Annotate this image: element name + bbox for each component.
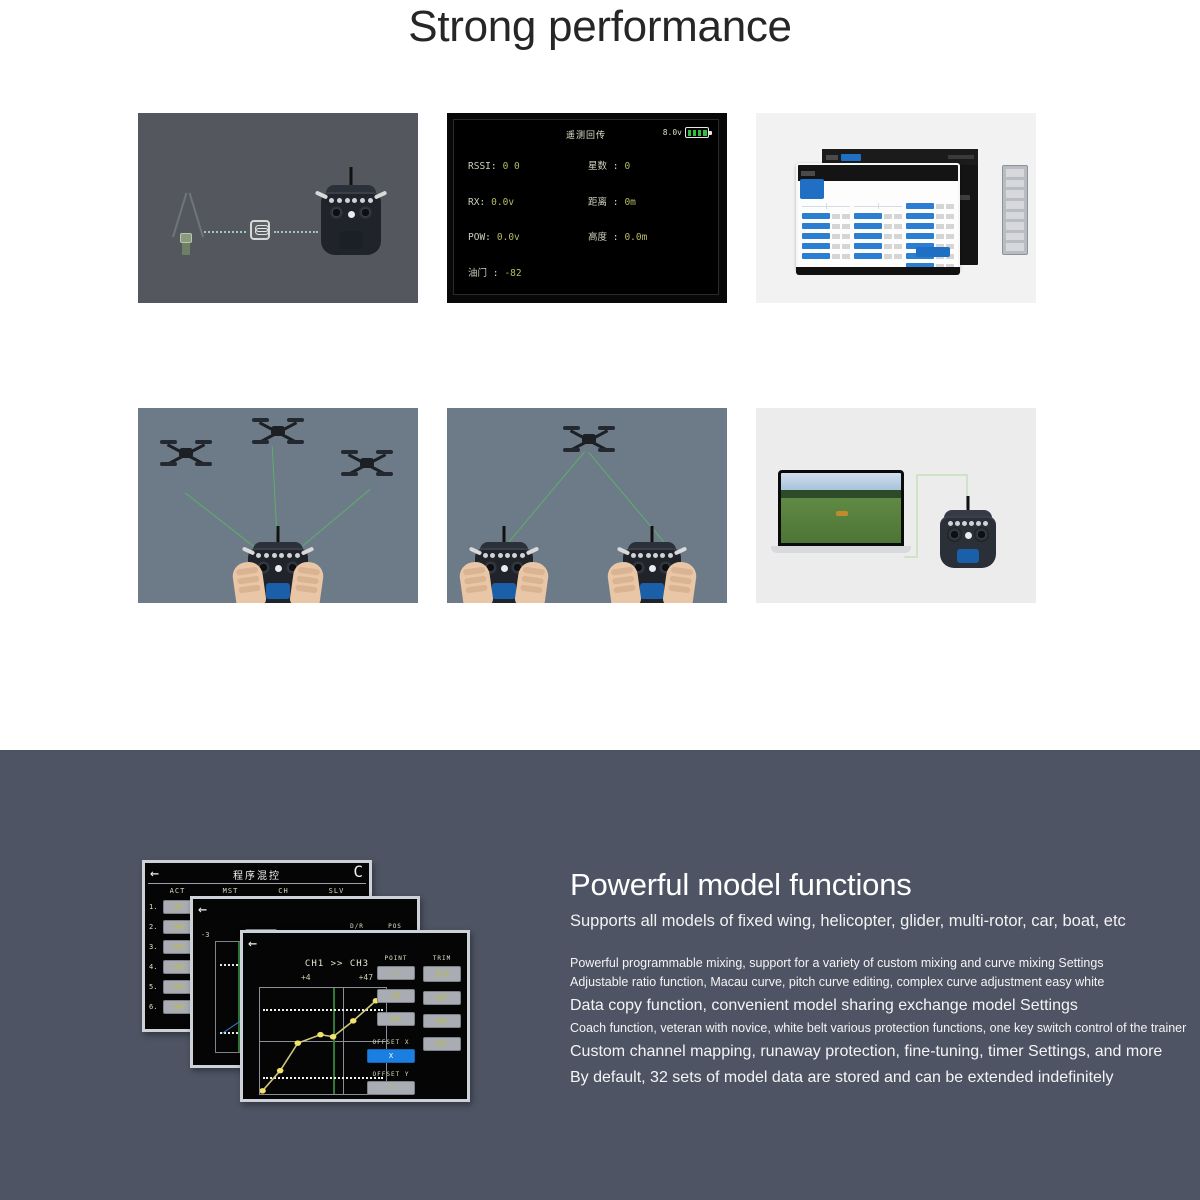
screen-title: 程序混控 [145,867,369,882]
telemetry-label: 高度 : [588,233,618,243]
radio-transmitter [321,167,381,255]
telemetry-row: RSSI:0 0 星数 :0 [468,162,708,172]
column-header-act: ACT [151,887,204,895]
list-item: Adjustable ratio function, Macau curve, … [570,973,1175,993]
signal-icon [250,220,270,240]
page-title: Strong performance [0,2,1200,52]
act-button[interactable]: INH [163,980,193,994]
usb-cable [904,556,918,558]
feature-telemetry: 遥测回传 8.0v RSSI:0 0 星数 :0 RX:0.0v 距离 :0m [447,113,727,303]
switch-row [329,198,372,204]
usb-cable [916,474,918,558]
list-item: Powerful programmable mixing, support fo… [570,954,1175,974]
row-index: 2. [149,923,158,931]
feature-grid: 遥测回传 8.0v RSSI:0 0 星数 :0 RX:0.0v 距离 :0m [138,113,1036,603]
back-arrow-icon[interactable]: ← [198,902,207,917]
section-subtitle: Supports all models of fixed wing, helic… [570,911,1175,932]
column-header-point: POINT [377,955,415,962]
column-header-slv: SLV [310,887,363,895]
channel-slider[interactable] [906,213,954,219]
powerful-model-functions-section: ← 程序混控 C ACT MST CH SLV 1. ON INH [0,750,1200,1200]
offset-value: -3 [201,931,209,939]
trim-edit-button[interactable]: EDT [423,991,461,1005]
transmitter-screen [640,583,663,599]
telemetry-rows: RSSI:0 0 星数 :0 RX:0.0v 距离 :0m POW:0.0v 高… [468,162,708,303]
channel-slider[interactable] [906,233,954,239]
feature-multi-model [138,408,418,603]
simulated-model-icon [836,511,848,516]
column-header-mst: MST [204,887,257,895]
point-del-button[interactable]: DEL [377,1012,415,1026]
refresh-icon[interactable]: C [353,864,363,880]
column-header-dr: D/R [341,923,373,930]
radio-transmitter-student [475,526,533,603]
telemetry-value: 0.0m [624,233,647,243]
battery-icon [685,127,709,138]
telemetry-value: 0m [624,198,635,208]
channel-slider[interactable] [906,223,954,229]
window-statusbar [796,267,960,275]
transmitter-screen [492,583,515,599]
row-index: 4. [149,963,158,971]
channel-slider[interactable] [802,233,850,239]
laptop-screen [778,470,904,546]
channel-slider[interactable] [854,213,902,219]
channel-slider[interactable] [906,203,954,209]
trim-off-button[interactable]: 关闭 [423,966,461,982]
link-dotted-line-left [204,231,246,233]
telemetry-row: 油门 :-82 [468,269,708,279]
telemetry-label: 距离 : [588,198,618,208]
drone-icon [344,450,390,476]
offset-x-label: OFFSET X [367,1039,415,1046]
offset-x-button[interactable]: X [367,1049,415,1063]
list-item: Data copy function, convenient model sha… [570,993,1175,1019]
telemetry-row: RX:0.0v 距离 :0m [468,198,708,208]
channel-slider[interactable] [802,253,850,259]
telemetry-value: 0.0v [497,233,520,243]
page-root: Strong performance [0,0,1200,1200]
telemetry-value: 0 0 [503,162,520,172]
telemetry-label: RX: [468,198,485,208]
link-dotted-line-right [274,231,318,233]
channel-slider[interactable] [802,213,850,219]
radio-transmitter-instructor [623,526,681,603]
nav-tab-active[interactable] [800,179,824,199]
drone-icon [163,440,209,466]
trim-inc-button[interactable]: INC [423,1014,461,1028]
telemetry-label: 星数 : [588,162,618,172]
list-item: By default, 32 sets of model data are st… [570,1065,1175,1091]
transmitter-screen [339,231,363,249]
channel-slider[interactable] [854,253,902,259]
feature-bullet-list: Powerful programmable mixing, support fo… [570,954,1175,1091]
section-copy: Powerful model functions Supports all mo… [570,868,1175,1091]
settings-window-front [796,163,960,271]
telemetry-label: POW: [468,233,491,243]
channel-slider[interactable] [854,233,902,239]
column-headers: ACT MST CH SLV [151,887,363,895]
mix-value-2: +47 [359,973,373,982]
power-led-icon [348,211,355,218]
trim-dec-button[interactable]: DEC [423,1037,461,1051]
feature-pc-software [756,113,1036,303]
section-title: Powerful model functions [570,868,1175,902]
telemetry-label: 油门 : [468,269,498,279]
telemetry-value: 0.0v [491,198,514,208]
offset-y-label: OFFSET Y [367,1071,415,1078]
stick-crosshair [802,203,850,209]
apply-button[interactable] [916,247,950,257]
row-index: 1. [149,903,158,911]
radio-transmitter [248,526,308,603]
radio-screen-stack: ← 程序混控 C ACT MST CH SLV 1. ON INH [140,860,490,1120]
screen-curve-editor: ← CH1 >> CH3 +4 +47 [240,930,470,1102]
usb-cable [916,474,968,476]
transmitter-screen [266,583,290,599]
row-index: 3. [149,943,158,951]
channel-slider[interactable] [854,243,902,249]
column-header-ch: CH [257,887,310,895]
battery-indicator: 8.0v [663,127,709,138]
point-on-button[interactable]: ON [377,989,415,1003]
feature-rf-link [138,113,418,303]
act-button[interactable]: INH [163,960,193,974]
column-header-trim: TRIM [423,955,461,962]
act-button[interactable]: INH [163,1000,193,1014]
telemetry-lcd: 遥测回传 8.0v RSSI:0 0 星数 :0 RX:0.0v 距离 :0m [453,119,719,295]
list-item: Custom channel mapping, runaway protecti… [570,1039,1175,1065]
channel-slider[interactable] [802,243,850,249]
channel-slider[interactable] [802,223,850,229]
row-index: 6. [149,1003,158,1011]
trim-column: TRIM 关闭 EDT INC DEC [423,955,461,1060]
act-button[interactable]: INH [163,940,193,954]
transmitter-screen [957,549,979,563]
back-arrow-icon[interactable]: ← [248,936,257,951]
telemetry-row: POW:0.0v 高度 :0.0m [468,233,708,243]
channel-slider[interactable] [854,223,902,229]
active-tab [841,154,861,161]
battery-voltage: 8.0v [663,128,682,137]
laptop-base [771,546,911,553]
telemetry-value: -82 [504,269,521,279]
row-index: 5. [149,983,158,991]
feature-trainer-mode [447,408,727,603]
stick-crosshair [854,203,902,209]
feature-simulator [756,408,1036,603]
list-item: Coach function, veteran with novice, whi… [570,1019,1175,1039]
drone-icon [566,426,612,452]
mix-value-1: +4 [301,973,311,982]
point-index-button[interactable]: 1 [377,966,415,980]
channel-list-panel[interactable] [1002,165,1028,255]
divider [148,883,366,884]
telemetry-value: 0 [624,162,630,172]
act-button[interactable]: INH [163,920,193,934]
radio-transmitter [940,496,996,568]
offset-y-button[interactable]: Y [367,1081,415,1095]
act-button[interactable]: ON [163,900,193,914]
laptop-simulator [778,470,911,553]
offset-controls: OFFSET X X OFFSET Y Y [367,1039,415,1095]
column-header-pos: POS [379,923,411,930]
telemetry-label: RSSI: [468,162,497,172]
drone-icon [255,418,301,444]
